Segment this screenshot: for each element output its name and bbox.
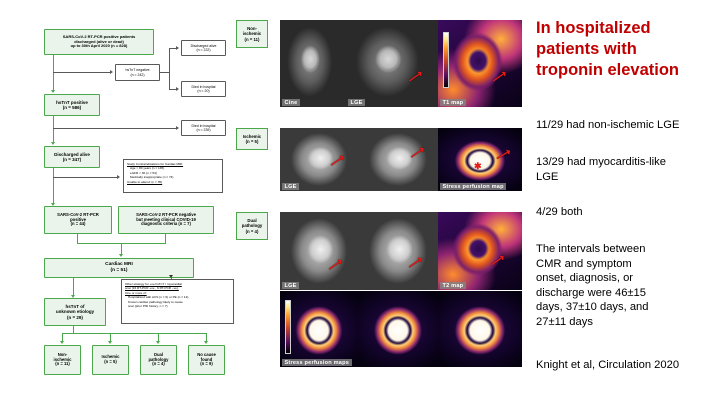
arrow-neg-discharged [176, 46, 179, 50]
connector-mri-left-down [73, 278, 74, 296]
headline-line1: In hospitalized [536, 18, 718, 39]
row-label-non-ischemic-line3: (n = 11) [245, 37, 260, 42]
cmr-tile-stress-perfusion-row2: ✱ ⟶ Stress perfusion map [438, 128, 522, 191]
arrow-enrolled-down [51, 90, 55, 93]
summary-headline: In hospitalized patients with troponin e… [536, 18, 718, 80]
caption-cine: Cine [282, 99, 300, 106]
caption-t2map: T2 map [440, 282, 466, 289]
caption-lge-row3: LGE [282, 282, 299, 289]
arrow-outcome-1 [60, 341, 64, 344]
cmr-tile-perfusion-3 [438, 291, 522, 367]
row-label-dual-line3: (n = 4) [246, 229, 259, 234]
paragraph-line6: 27±11 days [536, 315, 716, 330]
flow-node-non-ischemic: Non- ischemic (n = 11) [44, 345, 81, 375]
non-ischemic-line3: (n = 11) [55, 362, 70, 367]
caption-lge-row2: LGE [282, 183, 299, 190]
cardiac-mri-line2: (n = 51) [111, 268, 128, 274]
cmr-tile-t2map: ⟶ T2 map [438, 212, 522, 290]
ischemic-line2: (n = 5) [104, 360, 116, 365]
discharged-alive-neg-line2: (n = 222) [196, 48, 210, 52]
arrow-outcome-4 [204, 341, 208, 344]
summary-point-2: 13/29 had myocarditis-like LGE [536, 155, 716, 184]
flow-node-hstnt-negative: hsTnT negative (n = 242) [115, 64, 160, 81]
summary-citation: Knight et al, Circulation 2020 [536, 358, 716, 373]
flow-node-sars-negative: SARS-CoV-2 RT-PCR negative but meeting c… [118, 206, 214, 234]
cine-image [280, 20, 346, 107]
discharged-alive-line2: (n = 347) [63, 157, 81, 162]
arrow-to-hstnt-negative [110, 70, 113, 74]
t2-map-image [438, 212, 522, 290]
sars-positive-line3: (n = 44) [71, 222, 86, 227]
flow-node-hstnt-unknown: hsTnT of unknown etiology (n = 29) [44, 298, 106, 326]
connector-discharged-down [53, 168, 54, 204]
summary-paragraph: The intervals between CMR and symptom on… [536, 242, 716, 329]
arrow-pos-died [176, 126, 179, 130]
flow-node-contraindications: Study Contraindications for Cardiac MRI:… [123, 159, 223, 193]
flow-node-discharged-alive-neg: Discharged alive (n = 222) [181, 40, 226, 56]
row-label-non-ischemic: Non- ischemic (n = 11) [236, 20, 268, 48]
point3-text: 4/29 both [536, 205, 716, 220]
consort-flowchart: SARS-CoV-2 RT-PCR positive patients disc… [0, 0, 232, 405]
row-label-dual-pathology: Dual pathology (n = 4) [236, 212, 268, 240]
flow-node-ischemic: Ischemic (n = 5) [92, 345, 129, 375]
row-label-ischemic: Ischemic (n = 5) [236, 128, 268, 150]
connector-outcomes-bus [62, 333, 207, 334]
t1-map-colorbar [443, 32, 449, 88]
paragraph-line3: onset, diagnosis, or [536, 271, 716, 286]
flow-node-hstnt-positive: hsTnT positive (n = 586) [44, 94, 100, 116]
point2-line1: 13/29 had myocarditis-like [536, 155, 716, 170]
connector-neg-split [169, 48, 170, 90]
summary-point-3: 4/29 both [536, 205, 716, 220]
citation-text: Knight et al, Circulation 2020 [536, 358, 716, 373]
lge-image-row2b [358, 128, 438, 191]
headline-line2: patients with [536, 39, 718, 60]
arrow-outcome-3 [156, 341, 160, 344]
sars-negative-line3: diagnostic criteria (n = 7) [141, 222, 191, 227]
perfusion-image-3 [438, 291, 522, 367]
point1-text: 11/29 had non-ischemic LGE [536, 118, 716, 133]
caption-lge-row1: LGE [348, 99, 365, 106]
caption-t1map: T1 map [440, 99, 466, 106]
cmr-tile-lge-row1: ⟶ LGE [346, 20, 438, 107]
paragraph-line2: CMR and symptom [536, 257, 716, 272]
cmr-tile-lge-row2a: ⟶ LGE [280, 128, 358, 191]
row-label-ischemic-line2: (n = 5) [246, 139, 259, 144]
arrow-to-contraindications [117, 175, 120, 179]
flow-node-enrolled: SARS-CoV-2 RT-PCR positive patients disc… [44, 29, 154, 55]
arrow-neg-died [176, 87, 179, 91]
paragraph-line1: The intervals between [536, 242, 716, 257]
headline-line3: troponin elevation [536, 60, 718, 81]
perfusion-image-1 [280, 291, 358, 367]
flow-node-died-hospital-neg: Died in hospital (n = 20) [181, 81, 226, 97]
arrow-mri-right-down [169, 275, 173, 278]
no-cause-line3: (n = 9) [200, 362, 212, 367]
lge-image-row1 [346, 20, 438, 107]
hstnt-positive-line2: (n = 586) [63, 105, 81, 110]
flow-node-sars-positive: SARS-CoV-2 RT-PCR positive (n = 44) [44, 206, 112, 234]
flow-node-died-hospital-pos: Died in hospital (n = 239) [181, 120, 226, 136]
connector-pos-to-died [53, 128, 177, 129]
hstnt-negative-line2: (n = 242) [130, 73, 144, 77]
flow-node-other-etiology: Other etiology for +ve hsTnT / myocardia… [121, 279, 234, 324]
cmr-tile-cine: Cine [280, 20, 346, 107]
contraindications-footer: Unable to attend: (n = 35) [127, 180, 219, 184]
died-hospital-neg-line2: (n = 20) [197, 89, 209, 93]
stress-perfusion-image-row2 [438, 128, 522, 191]
dual-pathology-line3: (n = 4) [152, 362, 164, 367]
cmr-image-panel: Non- ischemic (n = 11) Cine ⟶ LGE ⟶ T1 m… [232, 0, 522, 405]
perfusion-colorbar [285, 300, 291, 354]
connector-pos-down [53, 116, 54, 143]
finding-asterisk-row2: ✱ [474, 162, 482, 171]
arrow-pos-down [51, 142, 55, 145]
died-hospital-pos-line2: (n = 239) [196, 128, 210, 132]
slide: SARS-CoV-2 RT-PCR positive patients disc… [0, 0, 720, 405]
arrow-merge-down [119, 254, 123, 257]
point2-line2: LGE [536, 170, 716, 185]
summary-point-1: 11/29 had non-ischemic LGE [536, 118, 716, 133]
t1-map-image [438, 20, 522, 107]
cmr-tile-lge-row3a: ⟶ LGE [280, 212, 358, 290]
flow-node-no-cause-found: No cause found (n = 9) [188, 345, 225, 375]
paragraph-line4: discharge were 46±15 [536, 286, 716, 301]
cmr-tile-lge-row3b: ⟶ [358, 212, 438, 290]
cmr-tile-perfusion-2 [358, 291, 438, 367]
flow-node-discharged-alive: Discharged alive (n = 347) [44, 146, 100, 168]
cmr-tile-t1map: ⟶ T1 map [438, 20, 522, 107]
cmr-tile-lge-row2b: ⟶ [358, 128, 438, 191]
lge-image-row3b [358, 212, 438, 290]
caption-stress-perfusion-maps: Stress perfusion maps [282, 359, 352, 366]
connector-to-contraindications [53, 177, 118, 178]
enrolled-line3: up to 30th April 2020 (n = 828) [71, 44, 128, 49]
hstnt-unknown-line3: (n = 29) [67, 315, 83, 320]
caption-stress-perfusion-row2: Stress perfusion map [440, 183, 506, 190]
lge-image-row3a [280, 212, 358, 290]
connector-to-hstnt-negative [53, 72, 111, 73]
cmr-tile-perfusion-1: Stress perfusion maps [280, 291, 358, 367]
paragraph-line5: days, 37±10 days, and [536, 300, 716, 315]
perfusion-image-2 [358, 291, 438, 367]
arrow-outcome-2 [108, 341, 112, 344]
summary-panel: In hospitalized patients with troponin e… [528, 0, 720, 405]
other-etiology-item-2: scar (prior IHD history, n = 7) [125, 304, 230, 308]
flow-node-dual-pathology: Dual pathology (n = 4) [140, 345, 177, 375]
